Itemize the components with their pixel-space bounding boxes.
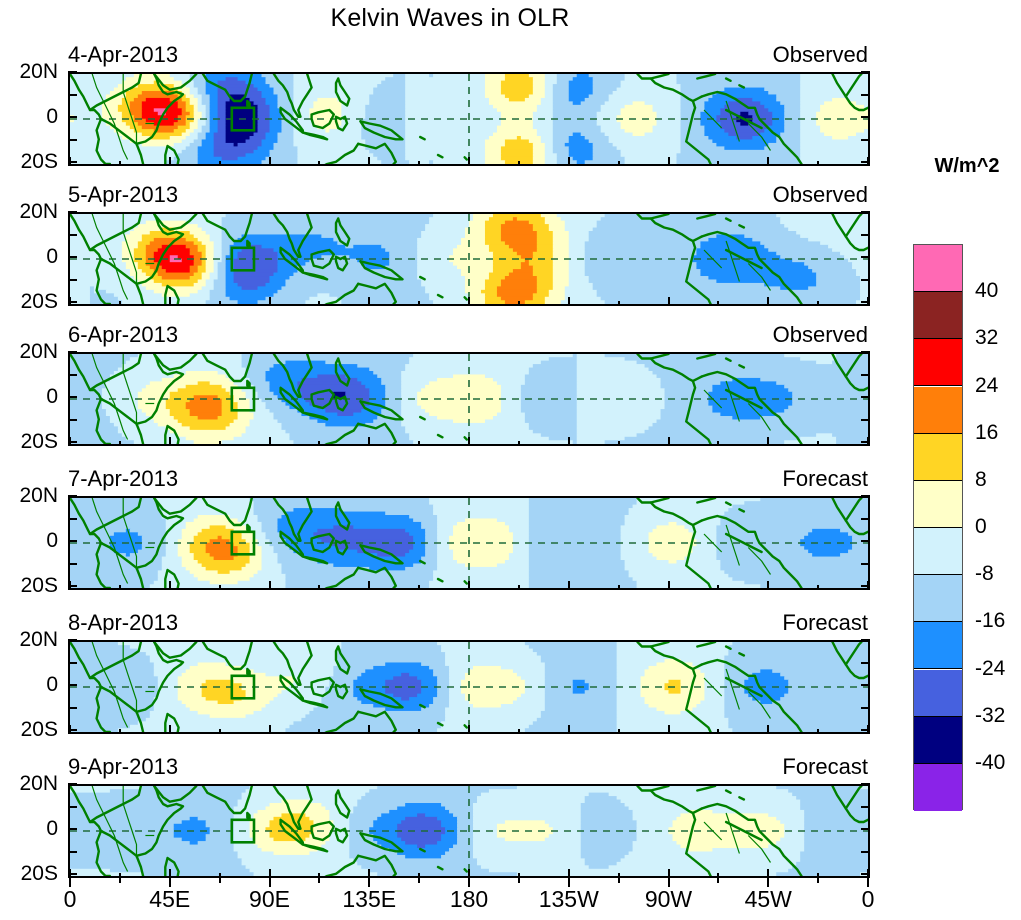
x-tick-outer — [318, 878, 320, 883]
x-tick — [368, 725, 370, 734]
colorbar — [913, 244, 963, 810]
x-tick — [269, 581, 271, 590]
y-tick — [68, 684, 77, 686]
x-axis-tick-label: 90E — [249, 886, 290, 913]
y-axis-label: 20S — [0, 575, 58, 596]
x-tick-outer — [219, 878, 221, 883]
colorbar-band — [914, 292, 962, 339]
x-tick — [69, 157, 71, 166]
x-tick — [269, 297, 271, 306]
y-tick — [861, 71, 870, 73]
x-tick — [518, 161, 520, 166]
colorbar-band — [914, 339, 962, 386]
colorbar-band — [914, 670, 962, 717]
x-tick-outer — [119, 878, 121, 883]
y-tick — [68, 495, 77, 497]
x-tick — [767, 581, 769, 590]
y-tick — [861, 684, 870, 686]
y-axis-label: 0 — [0, 818, 58, 839]
x-tick-outer — [418, 878, 420, 883]
map-panel-3 — [68, 352, 870, 446]
y-axis-label: 20N — [0, 485, 58, 506]
x-tick — [468, 869, 470, 878]
colorbar-tick-label: -8 — [975, 562, 994, 586]
map-panel-1 — [68, 72, 870, 166]
y-tick — [861, 419, 870, 421]
y-tick — [861, 828, 870, 830]
x-axis-tick-label: 135W — [539, 886, 599, 913]
map-panel-2 — [68, 212, 870, 306]
x-tick — [269, 437, 271, 446]
y-tick — [861, 374, 870, 376]
y-tick — [861, 563, 870, 565]
x-tick — [69, 581, 71, 590]
panel-kind-label: Observed — [0, 42, 868, 68]
colorbar-band — [914, 387, 962, 434]
x-tick — [169, 297, 171, 306]
y-tick — [861, 495, 870, 497]
y-tick — [861, 279, 870, 281]
colorbar-tick-label: -40 — [975, 751, 1005, 775]
colorbar-band — [914, 434, 962, 481]
x-tick — [568, 869, 570, 878]
x-tick — [418, 161, 420, 166]
x-tick — [318, 585, 320, 590]
y-tick — [68, 279, 77, 281]
colorbar-band — [914, 528, 962, 575]
x-tick — [817, 441, 819, 446]
x-tick — [368, 869, 370, 878]
y-tick — [68, 662, 77, 664]
figure-title: Kelvin Waves in OLR — [0, 4, 900, 33]
y-tick — [68, 563, 77, 565]
x-tick — [269, 725, 271, 734]
colorbar-tick-label: 40 — [975, 279, 998, 303]
y-axis-label: 20N — [0, 341, 58, 362]
map-panel-4 — [68, 496, 870, 590]
x-tick — [368, 581, 370, 590]
colorbar-units-label: W/m^2 — [913, 155, 1021, 178]
x-tick — [468, 581, 470, 590]
y-axis-label: 20S — [0, 431, 58, 452]
colorbar-tick-label: -32 — [975, 704, 1005, 728]
x-tick — [817, 301, 819, 306]
y-tick — [861, 351, 870, 353]
colorbar-tick-label: 32 — [975, 326, 998, 350]
panel-kind-label: Forecast — [0, 466, 868, 492]
x-tick — [318, 161, 320, 166]
colorbar-band — [914, 764, 962, 811]
x-tick — [219, 161, 221, 166]
x-tick — [618, 441, 620, 446]
y-tick — [68, 639, 77, 641]
x-tick — [568, 297, 570, 306]
y-tick — [68, 211, 77, 213]
x-tick — [69, 725, 71, 734]
x-tick — [668, 157, 670, 166]
x-tick — [219, 441, 221, 446]
y-tick — [68, 540, 77, 542]
y-tick — [68, 806, 77, 808]
x-tick — [817, 161, 819, 166]
x-tick — [618, 301, 620, 306]
y-tick — [861, 234, 870, 236]
x-tick — [618, 729, 620, 734]
y-axis-label: 20N — [0, 61, 58, 82]
x-tick — [568, 157, 570, 166]
panel-kind-label: Observed — [0, 322, 868, 348]
x-tick — [767, 725, 769, 734]
x-tick — [668, 297, 670, 306]
x-tick — [318, 301, 320, 306]
x-tick — [767, 157, 769, 166]
x-tick — [568, 725, 570, 734]
y-tick — [861, 518, 870, 520]
x-axis-tick-label: 45E — [149, 886, 190, 913]
map-panel-6 — [68, 784, 870, 878]
y-axis-label: 0 — [0, 246, 58, 267]
x-tick — [867, 157, 869, 166]
x-tick — [119, 301, 121, 306]
x-tick — [418, 585, 420, 590]
x-tick — [518, 729, 520, 734]
x-tick — [518, 441, 520, 446]
x-tick — [318, 441, 320, 446]
map-panel-5 — [68, 640, 870, 734]
x-tick — [717, 301, 719, 306]
x-tick — [169, 869, 171, 878]
y-tick — [861, 806, 870, 808]
x-tick — [318, 729, 320, 734]
x-axis-tick-label: 0 — [862, 886, 875, 913]
y-tick — [68, 851, 77, 853]
y-tick — [68, 234, 77, 236]
x-tick-outer — [518, 878, 520, 883]
colorbar-tick-label: 0 — [975, 515, 987, 539]
colorbar-band — [914, 245, 962, 292]
x-tick — [119, 729, 121, 734]
x-tick — [817, 729, 819, 734]
x-tick — [119, 441, 121, 446]
x-axis-labels: 045E90E135E180135W90W45W0 — [0, 886, 900, 916]
x-tick — [69, 297, 71, 306]
colorbar-tick-label: -16 — [975, 609, 1005, 633]
x-tick — [568, 581, 570, 590]
x-tick — [368, 157, 370, 166]
x-tick — [717, 585, 719, 590]
y-tick — [861, 116, 870, 118]
x-tick — [169, 157, 171, 166]
y-tick — [68, 351, 77, 353]
x-tick — [219, 585, 221, 590]
y-tick — [68, 783, 77, 785]
colorbar-tick-label: 24 — [975, 374, 998, 398]
x-tick — [717, 729, 719, 734]
figure-canvas: Kelvin Waves in OLR 4-Apr-2013Observed20… — [0, 0, 1021, 920]
colorbar-band — [914, 575, 962, 622]
x-tick — [618, 585, 620, 590]
y-tick — [861, 662, 870, 664]
x-tick — [119, 585, 121, 590]
y-axis-label: 20S — [0, 151, 58, 172]
x-tick — [867, 437, 869, 446]
y-axis-label: 0 — [0, 674, 58, 695]
x-tick — [717, 441, 719, 446]
x-tick — [169, 437, 171, 446]
y-tick — [861, 707, 870, 709]
x-tick — [269, 157, 271, 166]
y-axis-label: 20N — [0, 629, 58, 650]
y-tick — [68, 396, 77, 398]
x-tick-outer — [618, 878, 620, 883]
x-tick — [518, 301, 520, 306]
y-tick — [861, 256, 870, 258]
x-tick — [518, 585, 520, 590]
x-tick — [717, 161, 719, 166]
colorbar-band — [914, 481, 962, 528]
x-tick — [468, 297, 470, 306]
x-tick-outer — [817, 878, 819, 883]
x-tick — [169, 725, 171, 734]
x-tick — [69, 869, 71, 878]
y-tick — [68, 707, 77, 709]
x-tick — [618, 161, 620, 166]
x-tick — [468, 437, 470, 446]
y-tick — [861, 783, 870, 785]
y-axis-label: 0 — [0, 530, 58, 551]
colorbar-tick-label: 8 — [975, 468, 987, 492]
panel-kind-label: Forecast — [0, 754, 868, 780]
y-tick — [68, 139, 77, 141]
x-tick — [418, 441, 420, 446]
x-tick — [767, 869, 769, 878]
x-axis-tick-label: 0 — [64, 886, 77, 913]
y-axis-label: 20S — [0, 863, 58, 884]
x-tick — [219, 729, 221, 734]
x-tick — [418, 729, 420, 734]
colorbar-tick-label: -24 — [975, 657, 1005, 681]
x-tick — [468, 725, 470, 734]
y-tick — [861, 211, 870, 213]
panel-kind-label: Forecast — [0, 610, 868, 636]
x-tick — [867, 725, 869, 734]
x-tick — [767, 437, 769, 446]
x-tick — [368, 297, 370, 306]
colorbar-band — [914, 717, 962, 764]
y-tick — [68, 71, 77, 73]
y-axis-label: 20S — [0, 719, 58, 740]
colorbar-tick-label: 16 — [975, 421, 998, 445]
y-tick — [68, 94, 77, 96]
x-tick — [418, 301, 420, 306]
y-axis-label: 20S — [0, 291, 58, 312]
x-tick — [69, 437, 71, 446]
x-tick — [119, 161, 121, 166]
y-tick — [861, 851, 870, 853]
x-tick — [668, 869, 670, 878]
x-tick — [867, 581, 869, 590]
colorbar-band — [914, 622, 962, 669]
y-axis-label: 20N — [0, 201, 58, 222]
y-tick — [68, 419, 77, 421]
x-tick — [219, 301, 221, 306]
x-axis-tick-label: 135E — [342, 886, 396, 913]
x-tick — [867, 297, 869, 306]
x-axis-tick-label: 180 — [450, 886, 488, 913]
x-tick — [368, 437, 370, 446]
y-tick — [861, 639, 870, 641]
panel-kind-label: Observed — [0, 182, 868, 208]
y-tick — [861, 94, 870, 96]
x-tick — [767, 297, 769, 306]
x-tick — [169, 581, 171, 590]
y-axis-label: 0 — [0, 386, 58, 407]
y-tick — [68, 116, 77, 118]
y-tick — [68, 256, 77, 258]
x-tick — [568, 437, 570, 446]
y-tick — [861, 540, 870, 542]
x-tick — [668, 725, 670, 734]
y-tick — [861, 139, 870, 141]
y-tick — [861, 396, 870, 398]
x-tick — [468, 157, 470, 166]
y-tick — [68, 518, 77, 520]
x-axis-tick-label: 90W — [645, 886, 692, 913]
x-axis-tick-label: 45W — [745, 886, 792, 913]
y-axis-label: 0 — [0, 106, 58, 127]
x-tick — [269, 869, 271, 878]
y-tick — [68, 374, 77, 376]
y-tick — [68, 828, 77, 830]
x-tick — [817, 585, 819, 590]
x-tick — [867, 869, 869, 878]
y-axis-label: 20N — [0, 773, 58, 794]
x-tick — [668, 437, 670, 446]
x-tick-outer — [717, 878, 719, 883]
x-tick — [668, 581, 670, 590]
